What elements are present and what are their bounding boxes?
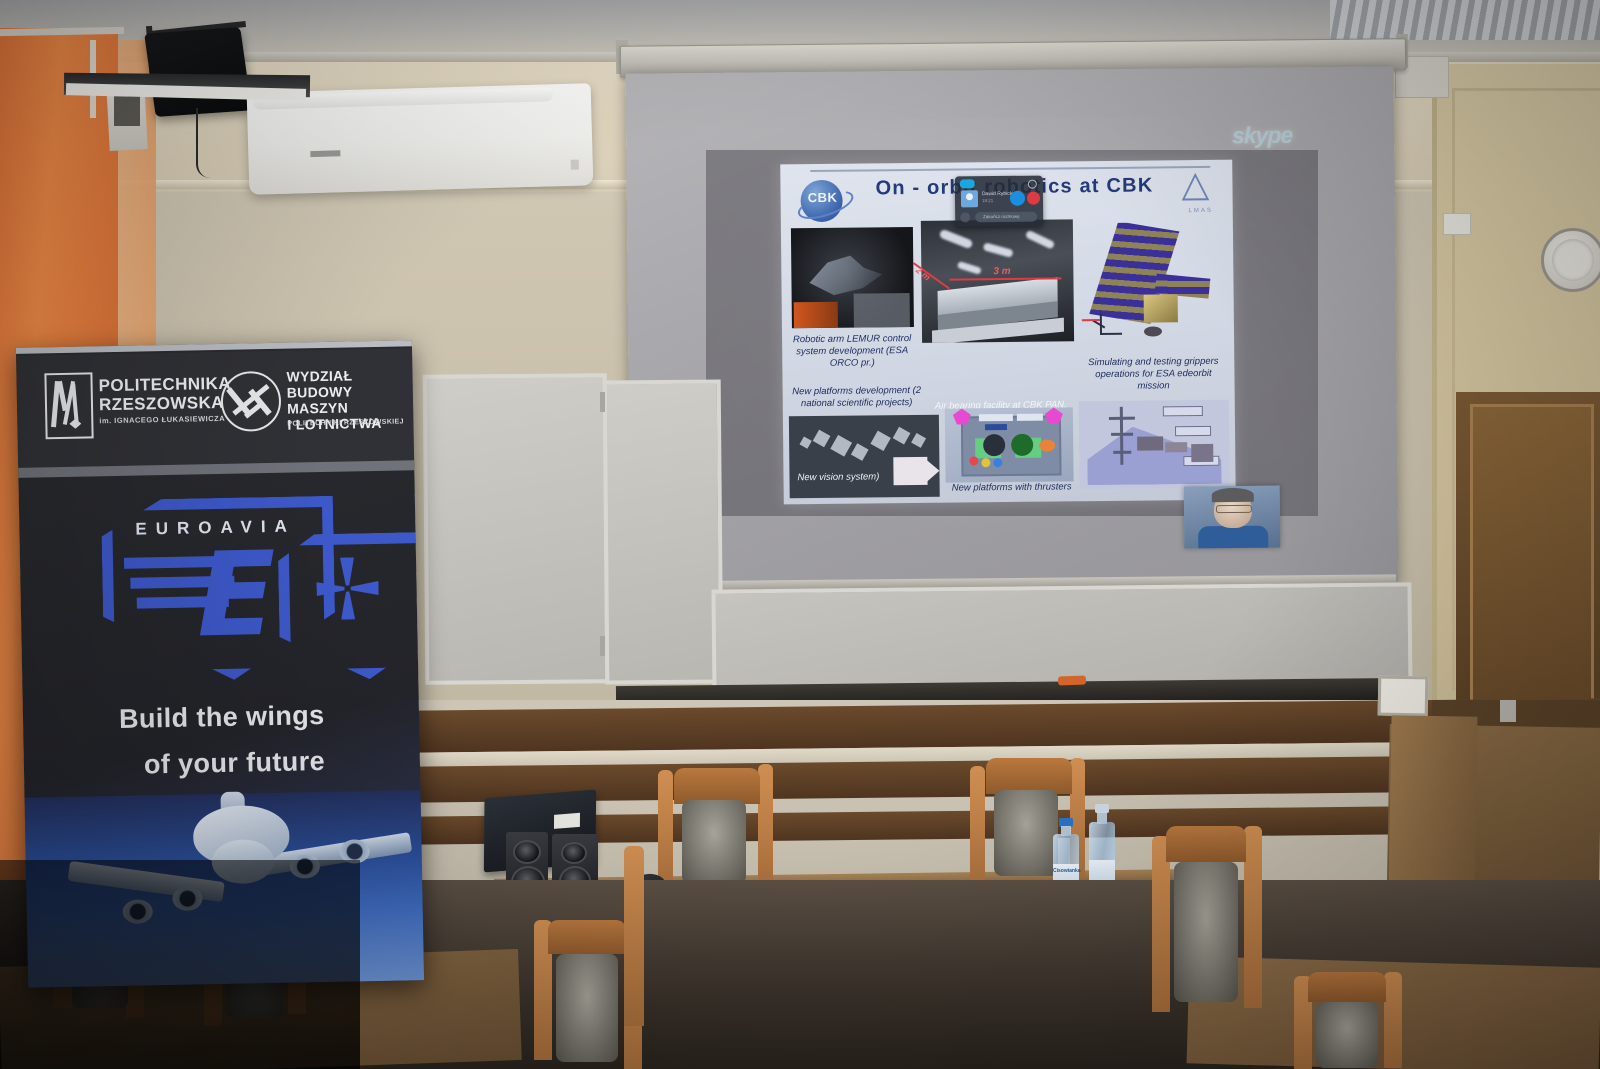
lectern-side-panel [1388,715,1477,892]
end-call-bar[interactable]: Zakończ rozmowę [975,212,1037,223]
lmas-logo-icon: △ LMAS [1178,172,1222,218]
illustration-satellite [1081,222,1224,349]
presenter-torso [1198,526,1268,549]
wooden-door[interactable] [1470,404,1594,710]
wall-plate-inner [114,96,140,126]
ac-brand-logo [310,150,340,157]
caption-platforms: New platforms development (2 national sc… [787,385,927,410]
euroavia-letter-e: E [196,544,318,652]
gripper-1 [1137,436,1163,450]
lmas-logo-text: LMAS [1179,208,1223,214]
end-call-label: Zakończ rozmowę [983,214,1020,219]
laptop-sticker [554,813,580,829]
ceiling-lamp-2 [983,242,1014,258]
whiteboard-hinge-bottom [600,636,605,656]
caption-lemur: Robotic arm LEMUR control system develop… [786,333,918,370]
banner-tagline-1: Build the wings [119,699,390,735]
lens-left [983,434,1005,456]
panel-label-3 [985,424,1007,430]
illustration-esa-mission [1079,400,1230,490]
structure-tower [1109,407,1136,467]
menu-icon[interactable] [960,212,970,222]
illustration-platform-thrusters [945,407,1074,482]
answer-call-button[interactable] [1010,191,1025,206]
wall-picture-frame [1378,676,1429,717]
chair-foreground-4[interactable] [620,846,650,1069]
gear-icon[interactable] [1028,180,1037,189]
annotation-gripper-docking [1163,406,1203,416]
whiteboard-marker[interactable] [1058,676,1086,686]
presenter-hair [1212,488,1254,502]
indicator-dot-3 [993,458,1002,467]
call-timer: 18:21 [982,198,993,203]
satellite-antenna [1144,326,1162,336]
panel-label-2 [1017,414,1043,421]
skype-call-overlay[interactable]: Dawid Rybicki 18:21 Zakończ rozmowę [955,176,1044,227]
orange-fixture [794,302,838,328]
ceiling-lamp-4 [957,261,982,275]
caption-grippers: Simulating and testing grippers operatio… [1078,356,1228,394]
chair-foreground-5[interactable] [1140,826,1290,1069]
whiteboard-panel-right [603,379,724,684]
whiteboard-hinge-top [600,392,605,412]
chair-foreground-6[interactable] [1284,972,1424,1069]
indicator-dot-1 [969,456,978,465]
foreground-shadow [0,860,360,1069]
faculty-line1: WYDZIAŁ [286,367,352,384]
lens-right [1011,434,1033,456]
ceiling-lamp-3 [1025,230,1056,250]
dimension-label-length: 3 m [993,266,1010,277]
ac-indicator-led [571,160,579,170]
cbk-logo-icon: CBK [798,178,850,223]
indicator-dot-2 [981,458,990,467]
hangup-call-button[interactable] [1027,192,1040,205]
faculty-line2: BUDOWY MASZYN [287,383,353,416]
slide-top-rule [810,166,1210,172]
gripper-3 [1191,444,1213,462]
ceiling-lamp-1 [939,229,974,250]
lecture-hall-photo: skype CBK On - orbit robotics at CBK △ L… [0,0,1600,1069]
play-arrow-icon [925,459,939,483]
caption-thrusters: New platforms with thrusters [938,481,1086,495]
gripper-2 [1165,442,1187,452]
photo-air-bearing-facility: 3 m [921,219,1074,343]
clock-icon [1541,228,1600,292]
banner-university-name: POLITECHNIKA RZESZOWSKA [98,374,231,415]
maltese-cross-icon [316,557,379,620]
politechnika-logo-icon [44,372,93,439]
ceiling-vent-grille [1330,0,1600,40]
monitor-cable [196,108,220,178]
bottle-brand-1: Cisowianka [1053,868,1079,874]
university-line1: POLITECHNIKA [98,374,231,396]
lectern-cup [1500,700,1516,722]
banner-tagline-2: of your future [144,744,405,780]
presenter-glasses [1216,505,1252,513]
whiteboard-panel-left [423,373,610,685]
photo-vision-system: New vision system) [789,415,940,499]
skype-logo-icon [960,179,975,188]
university-line2: RZESZOWSKA [99,393,224,414]
vision-white-block [893,457,927,485]
nozzle [1039,440,1055,452]
wall-monitor [144,27,252,117]
lmas-triangle-glyph: △ [1181,166,1209,202]
presenter-webcam-video [1184,485,1281,548]
chair-foreground-3[interactable] [520,920,680,1069]
coordinate-axes-icon [1090,309,1124,343]
annotation-robotic-arm [1175,426,1211,436]
satellite-body [1144,294,1178,322]
panel-label-1 [979,414,1013,421]
skype-watermark: skype [1232,122,1310,149]
avatar [961,190,978,207]
clock-face [1552,239,1594,281]
photo-lemur-arm [791,227,914,328]
lab-equipment-box [854,293,910,328]
caption-vision: New vision system) [797,471,879,483]
red-direction-arrow [1081,319,1100,321]
euroavia-logo: EUROAVIA E [81,481,405,677]
light-switch[interactable] [1443,213,1471,235]
caller-name: Dawid Rybicki [982,191,1013,197]
